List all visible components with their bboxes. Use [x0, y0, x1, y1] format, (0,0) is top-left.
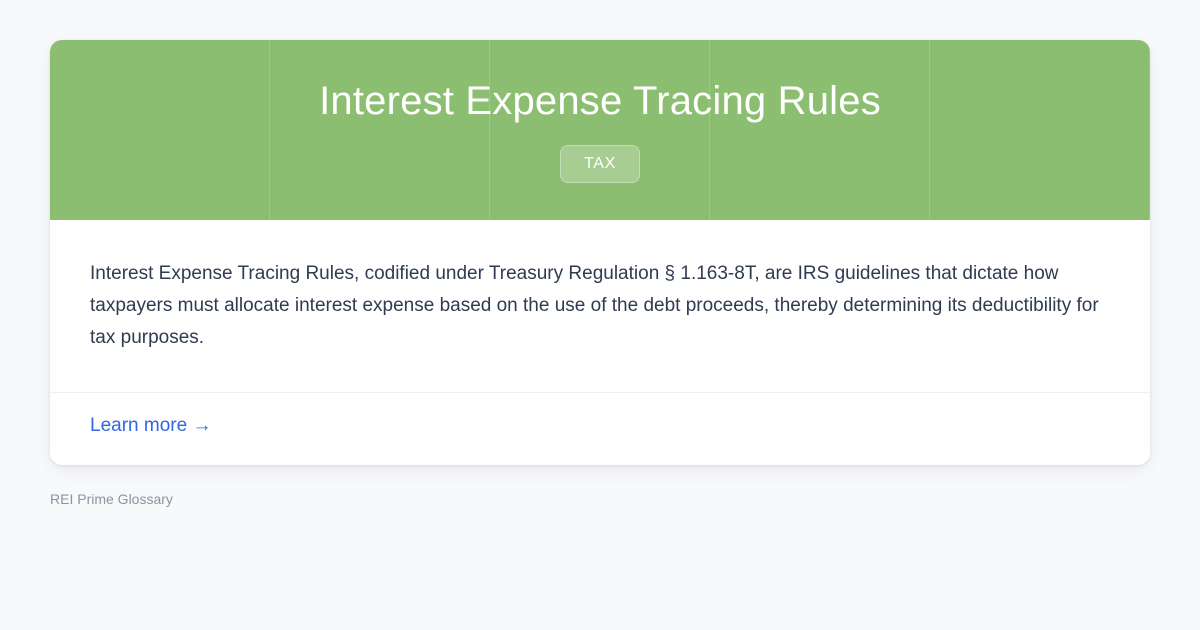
learn-more-link[interactable]: Learn more →	[90, 413, 211, 439]
category-badge: TAX	[560, 145, 640, 183]
definition-text: Interest Expense Tracing Rules, codified…	[90, 258, 1110, 354]
card-header: Interest Expense Tracing Rules TAX	[50, 40, 1150, 220]
source-label: REI Prime Glossary	[50, 489, 1150, 509]
card-body: Interest Expense Tracing Rules, codified…	[50, 220, 1150, 392]
card-footer: Learn more →	[50, 392, 1150, 465]
header-grid-pattern	[50, 40, 1150, 220]
page-root: Interest Expense Tracing Rules TAX Inter…	[0, 0, 1200, 630]
page-title: Interest Expense Tracing Rules	[319, 77, 881, 125]
glossary-card: Interest Expense Tracing Rules TAX Inter…	[50, 40, 1150, 465]
